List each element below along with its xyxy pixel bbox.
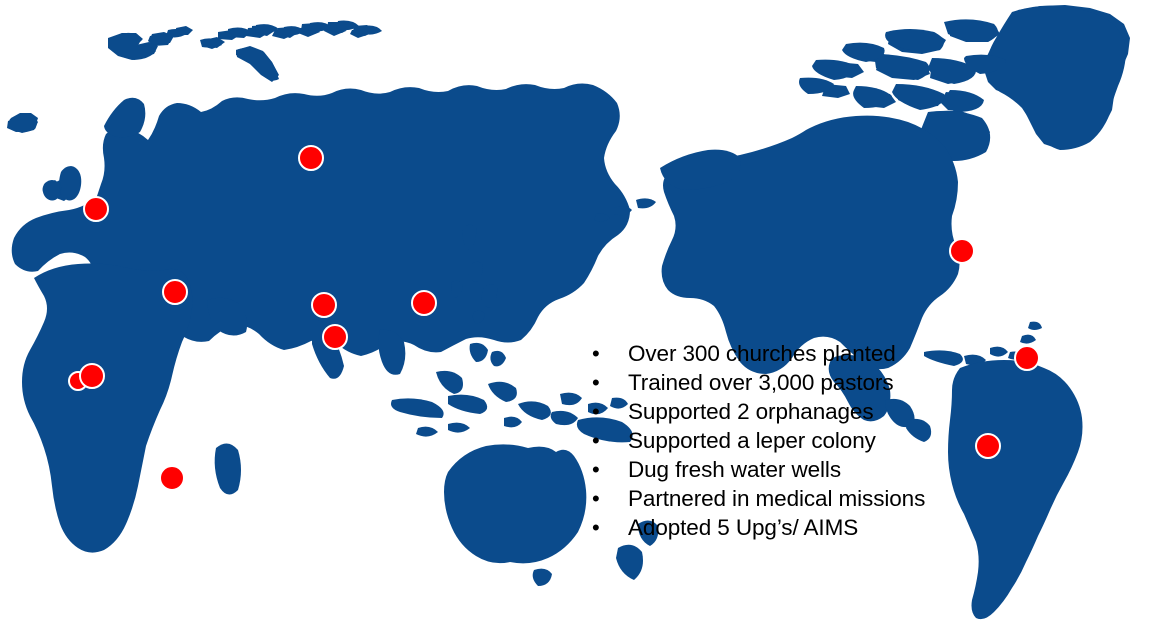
- marker-south-india[interactable]: [322, 324, 348, 350]
- marker-china[interactable]: [411, 290, 437, 316]
- marker-north-india[interactable]: [311, 292, 337, 318]
- marker-west-africa-2[interactable]: [79, 363, 105, 389]
- bullet-dot-icon: •: [592, 513, 628, 542]
- marker-western-europe[interactable]: [83, 196, 109, 222]
- bullet-item: •Partnered in medical missions: [592, 484, 1012, 513]
- bullet-text: Supported a leper colony: [628, 426, 876, 455]
- bullet-item: •Over 300 churches planted: [592, 339, 1012, 368]
- bullet-text: Adopted 5 Upg’s/ AIMS: [628, 513, 858, 542]
- bullet-item: •Dug fresh water wells: [592, 455, 1012, 484]
- bullet-item: •Supported a leper colony: [592, 426, 1012, 455]
- marker-egypt[interactable]: [162, 279, 188, 305]
- achievements-list: •Over 300 churches planted•Trained over …: [592, 339, 1012, 542]
- bullet-dot-icon: •: [592, 484, 628, 513]
- bullet-dot-icon: •: [592, 426, 628, 455]
- bullet-text: Over 300 churches planted: [628, 339, 896, 368]
- bullet-item: •Adopted 5 Upg’s/ AIMS: [592, 513, 1012, 542]
- marker-russia[interactable]: [298, 145, 324, 171]
- marker-southern-africa[interactable]: [159, 465, 185, 491]
- slide-canvas: •Over 300 churches planted•Trained over …: [0, 0, 1165, 630]
- bullet-dot-icon: •: [592, 339, 628, 368]
- bullet-item: •Supported 2 orphanages: [592, 397, 1012, 426]
- bullet-text: Dug fresh water wells: [628, 455, 841, 484]
- marker-united-states[interactable]: [949, 238, 975, 264]
- bullet-dot-icon: •: [592, 397, 628, 426]
- bullet-dot-icon: •: [592, 455, 628, 484]
- bullet-item: •Trained over 3,000 pastors: [592, 368, 1012, 397]
- marker-venezuela[interactable]: [1014, 345, 1040, 371]
- bullet-dot-icon: •: [592, 368, 628, 397]
- bullet-text: Supported 2 orphanages: [628, 397, 874, 426]
- bullet-text: Trained over 3,000 pastors: [628, 368, 893, 397]
- bullet-text: Partnered in medical missions: [628, 484, 925, 513]
